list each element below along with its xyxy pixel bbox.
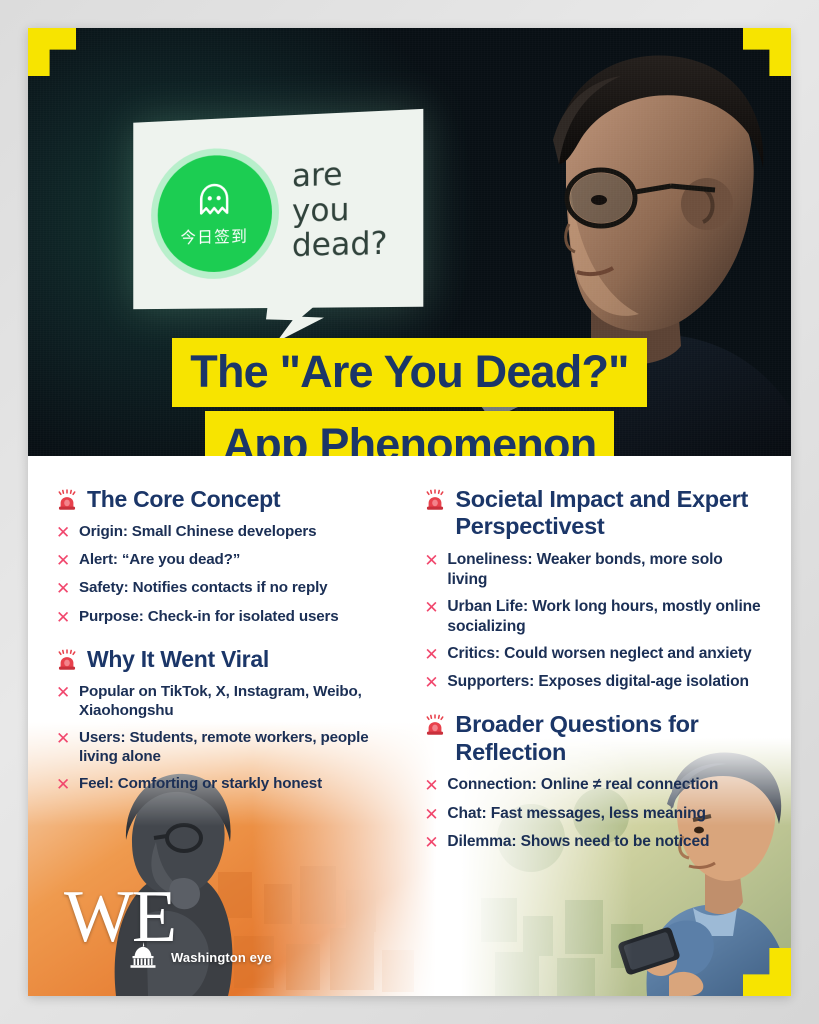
- hero-photo: 今日签到 are you dead? The "Are You Dead?" A…: [28, 28, 791, 456]
- logo-monogram: WE: [64, 887, 272, 948]
- bullet-text: Safety: Notifies contacts if no reply: [79, 578, 327, 597]
- bullet-text: Loneliness: Weaker bonds, more solo livi…: [447, 550, 763, 590]
- x-bullet-icon: ✕: [56, 578, 70, 599]
- app-speech-bubble: 今日签到 are you dead?: [133, 109, 423, 309]
- bubble-text: are you dead?: [292, 156, 388, 264]
- x-bullet-icon: ✕: [424, 644, 438, 665]
- bullet-item: ✕ Loneliness: Weaker bonds, more solo li…: [424, 550, 763, 590]
- poster-title: The "Are You Dead?" App Phenomenon: [28, 338, 791, 456]
- bullet-item: ✕ Connection: Online ≠ real connection: [424, 775, 763, 796]
- bullet-item: ✕ Critics: Could worsen neglect and anxi…: [424, 644, 763, 665]
- bullet-item: ✕ Popular on TikTok, X, Instagram, Weibo…: [56, 682, 402, 721]
- title-line-1: The "Are You Dead?": [172, 338, 646, 407]
- section-why-viral: Why It Went Viral ✕ Popular on TikTok, X…: [56, 646, 402, 795]
- bubble-line-3: dead?: [292, 227, 388, 264]
- brand-logo: WE Washington eye: [64, 887, 272, 968]
- bullet-item: ✕ Purpose: Check-in for isolated users: [56, 607, 402, 628]
- section-broader-questions: Broader Questions for Reflection ✕ Conne…: [424, 711, 763, 853]
- bullet-text: Urban Life: Work long hours, mostly onli…: [447, 597, 763, 637]
- app-badge: 今日签到: [158, 153, 272, 273]
- siren-icon: [424, 489, 446, 511]
- x-bullet-icon: ✕: [424, 597, 438, 618]
- bullet-item: ✕ Urban Life: Work long hours, mostly on…: [424, 597, 763, 637]
- bullet-text: Feel: Comforting or starkly honest: [79, 774, 322, 793]
- section-title: The Core Concept: [87, 486, 280, 513]
- siren-icon: [56, 649, 78, 671]
- capitol-dome-icon: [122, 942, 164, 968]
- bullet-item: ✕ Alert: “Are you dead?”: [56, 550, 402, 571]
- siren-icon: [56, 489, 78, 511]
- section-header: Why It Went Viral: [56, 646, 402, 673]
- x-bullet-icon: ✕: [424, 832, 438, 853]
- section-title: Societal Impact and Expert Perspectivest: [455, 486, 763, 541]
- right-column: Societal Impact and Expert Perspectivest…: [416, 486, 763, 996]
- bullet-item: ✕ Feel: Comforting or starkly honest: [56, 774, 402, 795]
- bullet-text: Alert: “Are you dead?”: [79, 550, 240, 569]
- section-header: Societal Impact and Expert Perspectivest: [424, 486, 763, 541]
- bullet-item: ✕ Users: Students, remote workers, peopl…: [56, 728, 402, 767]
- section-header: The Core Concept: [56, 486, 402, 513]
- bullet-text: Critics: Could worsen neglect and anxiet…: [447, 644, 751, 664]
- x-bullet-icon: ✕: [424, 550, 438, 571]
- bubble-line-2: you: [292, 191, 388, 229]
- app-badge-label: 今日签到: [181, 223, 249, 248]
- x-bullet-icon: ✕: [424, 672, 438, 693]
- bubble-line-1: are: [292, 156, 388, 195]
- bullet-text: Chat: Fast messages, less meaning: [447, 804, 706, 824]
- poster: 今日签到 are you dead? The "Are You Dead?" A…: [28, 28, 791, 996]
- x-bullet-icon: ✕: [56, 682, 70, 703]
- bullet-text: Users: Students, remote workers, people …: [79, 728, 402, 767]
- bullet-item: ✕ Dilemma: Shows need to be noticed: [424, 832, 763, 853]
- x-bullet-icon: ✕: [56, 522, 70, 543]
- bullet-item: ✕ Chat: Fast messages, less meaning: [424, 804, 763, 825]
- siren-icon: [424, 714, 446, 736]
- x-bullet-icon: ✕: [424, 775, 438, 796]
- logo-subline: Washington eye: [122, 942, 272, 968]
- bullet-item: ✕ Supporters: Exposes digital-age isolat…: [424, 672, 763, 693]
- bullet-text: Purpose: Check-in for isolated users: [79, 607, 339, 626]
- x-bullet-icon: ✕: [56, 607, 70, 628]
- x-bullet-icon: ✕: [424, 804, 438, 825]
- bullet-text: Connection: Online ≠ real connection: [447, 775, 718, 795]
- section-header: Broader Questions for Reflection: [424, 711, 763, 766]
- section-title: Broader Questions for Reflection: [455, 711, 763, 766]
- x-bullet-icon: ✕: [56, 550, 70, 571]
- title-line-2: App Phenomenon: [205, 411, 615, 456]
- x-bullet-icon: ✕: [56, 728, 70, 749]
- section-title: Why It Went Viral: [87, 646, 269, 673]
- bullet-text: Popular on TikTok, X, Instagram, Weibo, …: [79, 682, 402, 721]
- bullet-item: ✕ Origin: Small Chinese developers: [56, 522, 402, 543]
- bullet-text: Supporters: Exposes digital-age isolatio…: [447, 672, 748, 692]
- section-societal-impact: Societal Impact and Expert Perspectivest…: [424, 486, 763, 693]
- bullet-item: ✕ Safety: Notifies contacts if no reply: [56, 578, 402, 599]
- bullet-text: Origin: Small Chinese developers: [79, 522, 316, 541]
- logo-name: Washington eye: [171, 950, 272, 968]
- bullet-text: Dilemma: Shows need to be noticed: [447, 832, 709, 852]
- section-core-concept: The Core Concept ✕ Origin: Small Chinese…: [56, 486, 402, 628]
- ghost-icon: [195, 179, 234, 220]
- x-bullet-icon: ✕: [56, 774, 70, 795]
